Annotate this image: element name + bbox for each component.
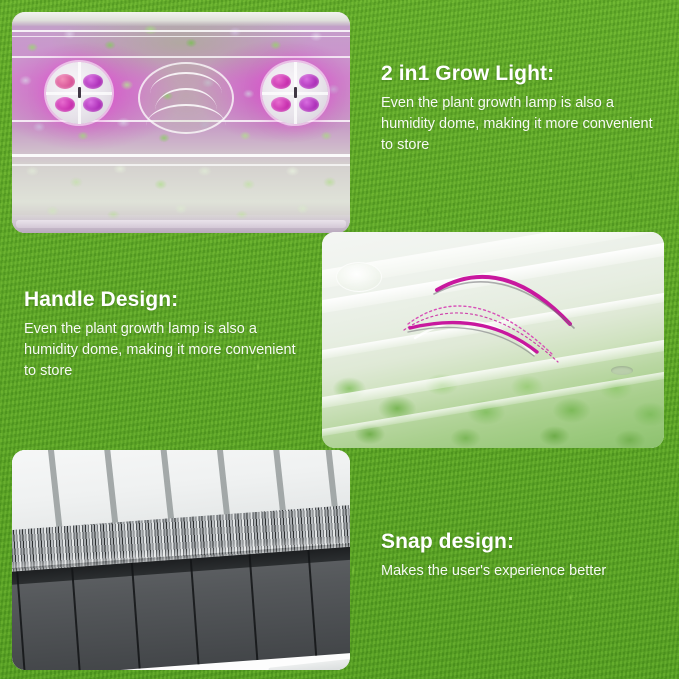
dome-top-edge xyxy=(12,12,350,26)
led-lens-icon xyxy=(55,97,75,112)
handle-closeup-photo xyxy=(322,232,664,448)
led-center-pin xyxy=(294,87,297,98)
led-lens-icon xyxy=(271,74,291,89)
feature-title-grow-light: 2 in1 Grow Light: xyxy=(381,62,661,86)
led-module-right xyxy=(262,62,328,124)
led-lens-icon xyxy=(299,74,319,89)
feature-title-snap-design: Snap design: xyxy=(381,530,666,554)
handle-arc-graphic xyxy=(322,232,664,448)
photo-panel-snap-design xyxy=(12,450,350,670)
dome-handle xyxy=(138,62,234,134)
led-module-left xyxy=(46,62,112,124)
feature-text-snap-design: Snap design: Makes the user's experience… xyxy=(381,530,666,582)
photo-panel-grow-light xyxy=(12,12,350,233)
feature-text-handle-design: Handle Design: Even the plant growth lam… xyxy=(24,288,309,382)
led-lens-icon xyxy=(83,74,103,89)
led-lens-icon xyxy=(55,74,75,89)
feature-body-grow-light: Even the plant growth lamp is also a hum… xyxy=(381,93,661,156)
photo-panel-handle-closeup xyxy=(322,232,664,448)
dome-bottom-lip xyxy=(16,220,346,228)
led-lens-icon xyxy=(271,97,291,112)
feature-text-grow-light: 2 in1 Grow Light: Even the plant growth … xyxy=(381,62,661,156)
led-lens-icon xyxy=(299,97,319,112)
infographic-board: 2 in1 Grow Light: Even the plant growth … xyxy=(0,0,679,679)
led-lens-icon xyxy=(83,97,103,112)
lid-edge xyxy=(268,658,350,670)
led-center-pin xyxy=(78,87,81,98)
feature-body-handle-design: Even the plant growth lamp is also a hum… xyxy=(24,319,309,382)
snap-design-photo xyxy=(12,450,350,670)
feature-body-snap-design: Makes the user's experience better xyxy=(381,561,666,582)
grow-light-photo xyxy=(12,12,350,233)
feature-title-handle-design: Handle Design: xyxy=(24,288,309,312)
